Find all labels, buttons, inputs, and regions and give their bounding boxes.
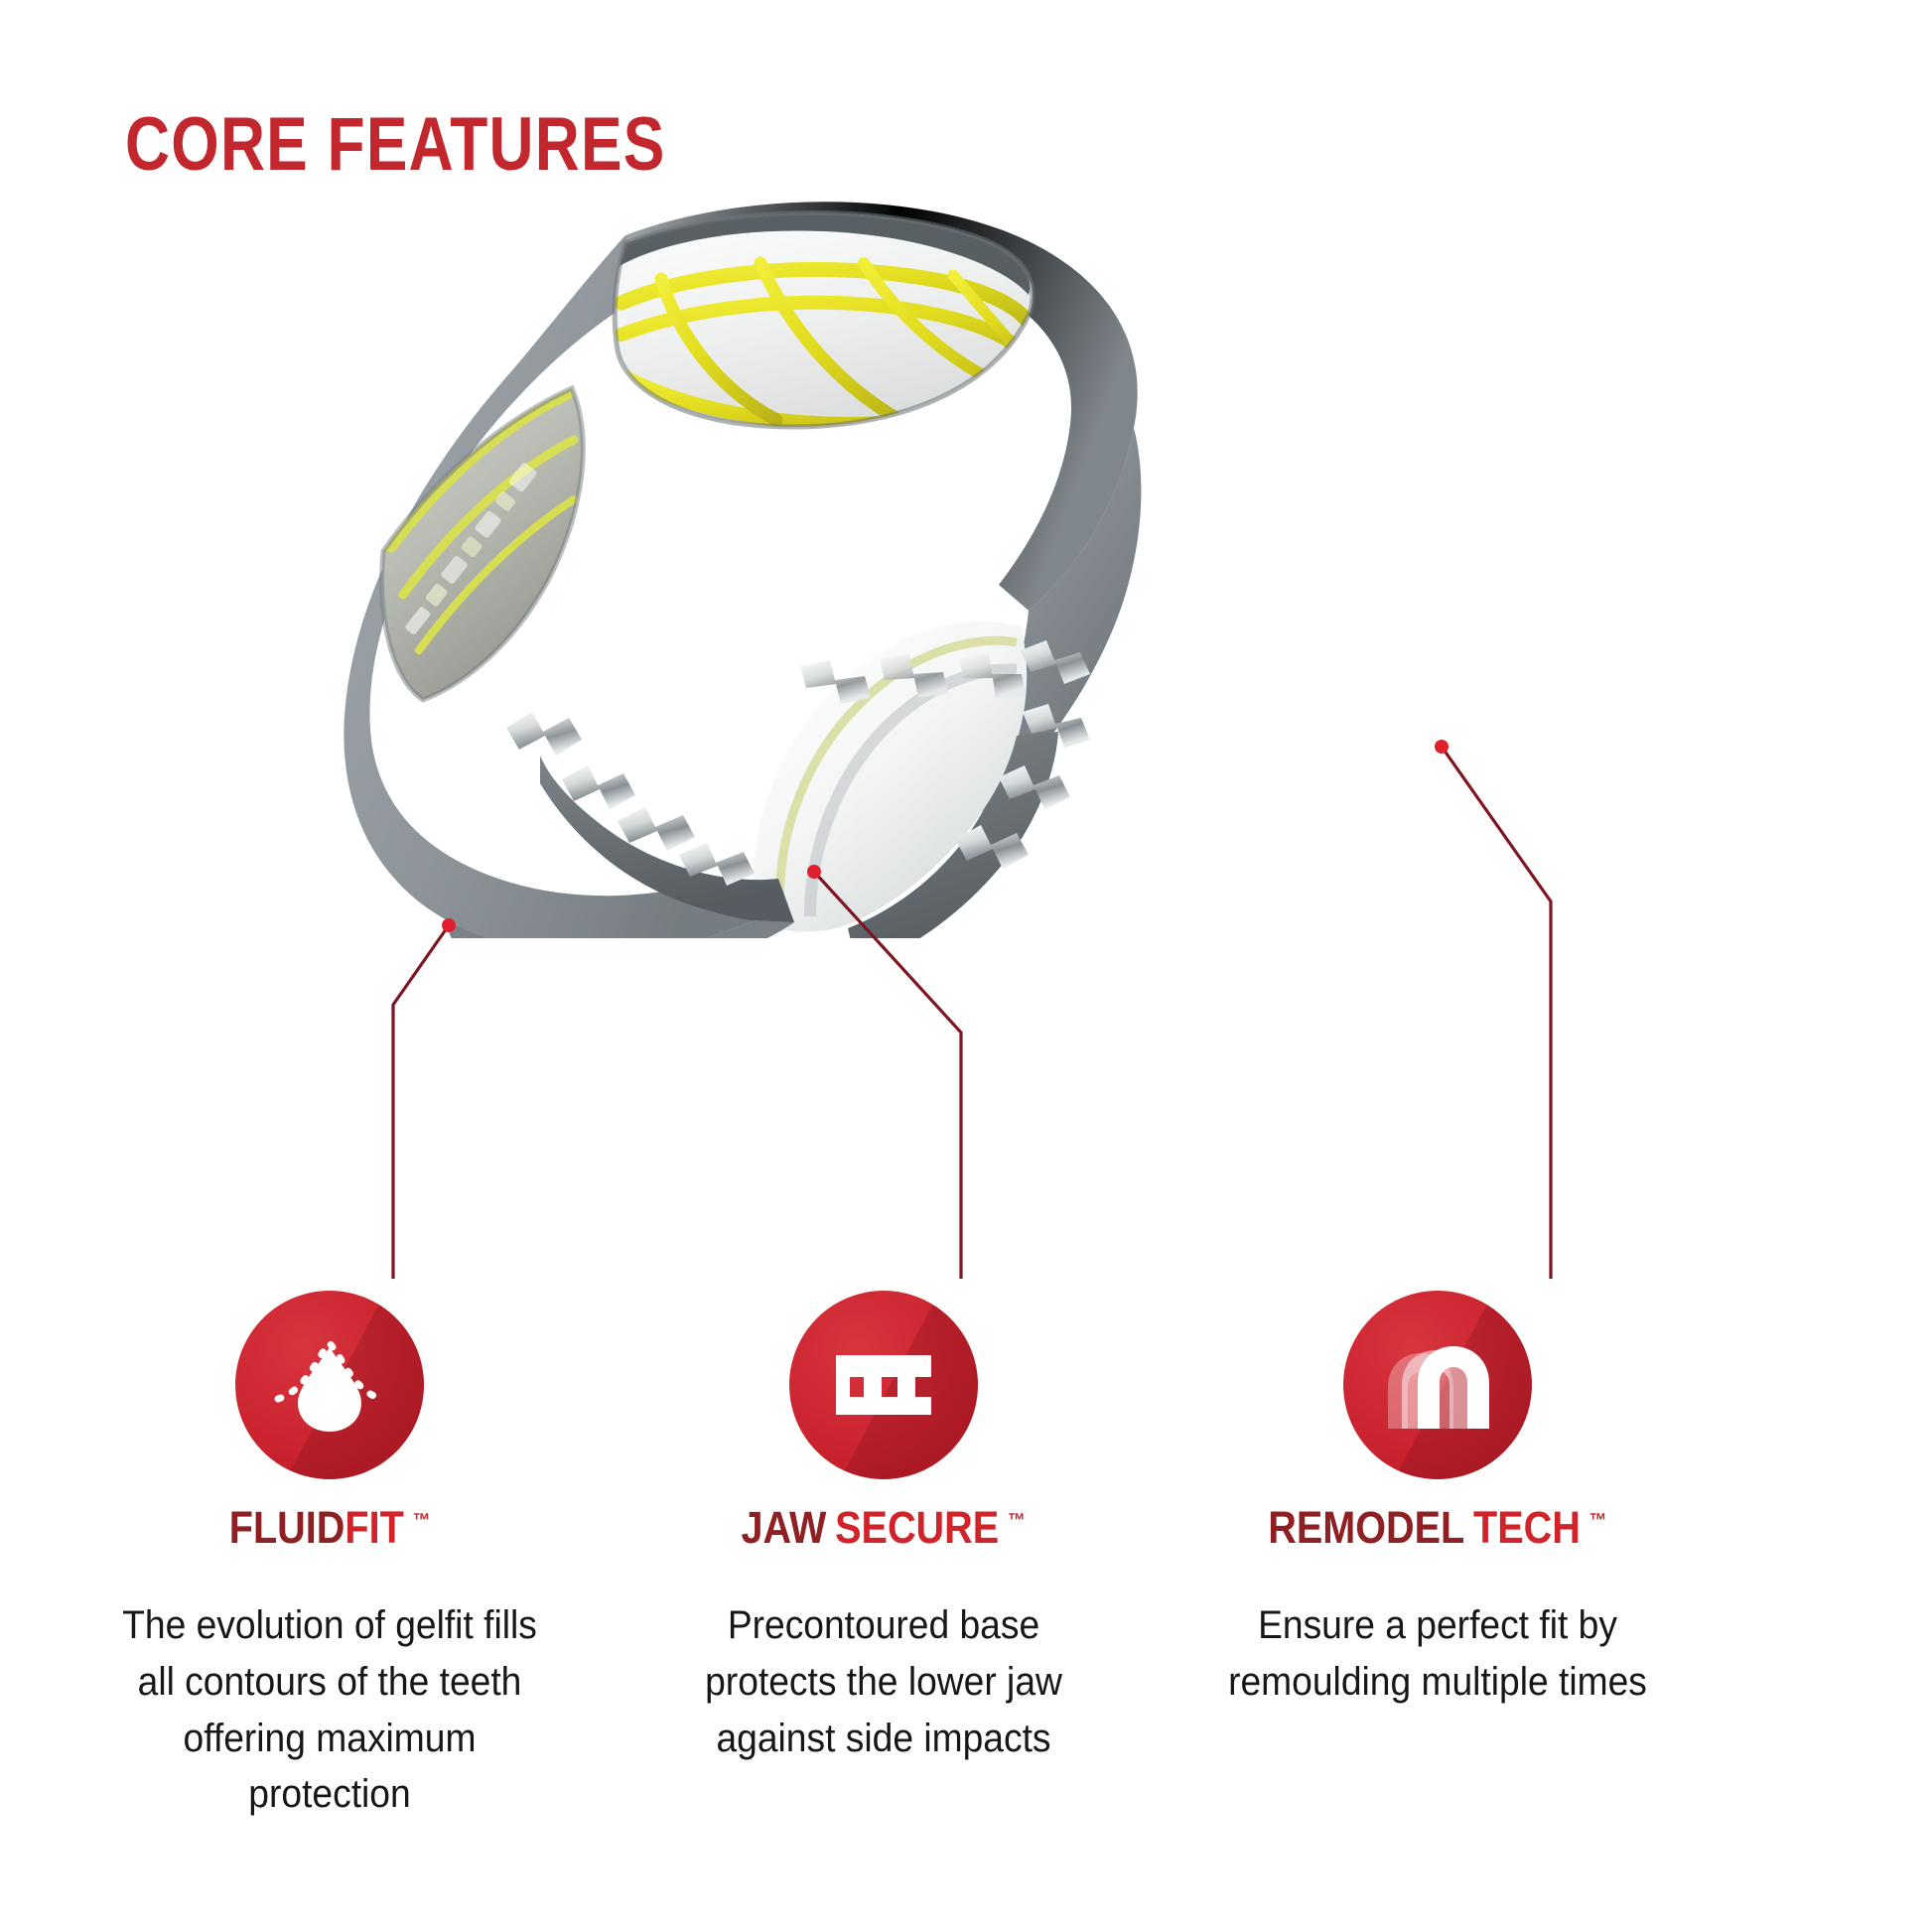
remould-arch-icon	[1374, 1325, 1501, 1445]
label-part2: FIT	[345, 1502, 403, 1553]
badge-remodeltech[interactable]	[1343, 1291, 1532, 1479]
leader-line-remodeltech	[1442, 747, 1551, 1279]
feature-description-remodeltech: Ensure a perfect fit by remoulding multi…	[1220, 1597, 1654, 1711]
feature-description-fluidfit: The evolution of gelfit fills all contou…	[112, 1597, 546, 1823]
feature-label-fluidfit: FLUIDFIT™	[229, 1505, 430, 1550]
leader-dot-remodeltech	[1435, 740, 1449, 754]
product-image	[328, 184, 1330, 938]
badge-jawsecure[interactable]	[789, 1291, 978, 1479]
feature-item-fluidfit[interactable]: FLUIDFIT™ The evolution of gelfit fills …	[71, 1291, 588, 1823]
feature-list: FLUIDFIT™ The evolution of gelfit fills …	[0, 1291, 1932, 1823]
label-part2: TECH	[1473, 1502, 1581, 1553]
label-part1: FLUID	[229, 1502, 345, 1553]
interlocking-jaw-icon	[824, 1325, 943, 1445]
feature-description-jawsecure: Precontoured base protects the lower jaw…	[666, 1597, 1100, 1766]
label-part2: SECURE	[836, 1502, 1000, 1553]
label-part1: REMODEL	[1269, 1502, 1465, 1553]
leader-line-fluidfit	[393, 925, 449, 1279]
trademark-symbol: ™	[413, 1510, 431, 1532]
trademark-symbol: ™	[1008, 1510, 1026, 1532]
feature-label-jawsecure: JAWSECURE™	[742, 1505, 1026, 1550]
feature-item-jawsecure[interactable]: JAWSECURE™ Precontoured base protects th…	[625, 1291, 1142, 1823]
infographic-page: CORE FEATURES	[0, 0, 1932, 1932]
mouthguard-illustration	[328, 184, 1330, 938]
fluid-drop-icon	[270, 1325, 389, 1445]
feature-label-remodeltech: REMODELTECH™	[1269, 1505, 1607, 1550]
trademark-symbol: ™	[1589, 1510, 1607, 1532]
feature-item-remodeltech[interactable]: REMODELTECH™ Ensure a perfect fit by rem…	[1179, 1291, 1696, 1823]
badge-fluidfit[interactable]	[235, 1291, 424, 1479]
label-part1: JAW	[742, 1502, 827, 1553]
page-title: CORE FEATURES	[125, 107, 666, 183]
